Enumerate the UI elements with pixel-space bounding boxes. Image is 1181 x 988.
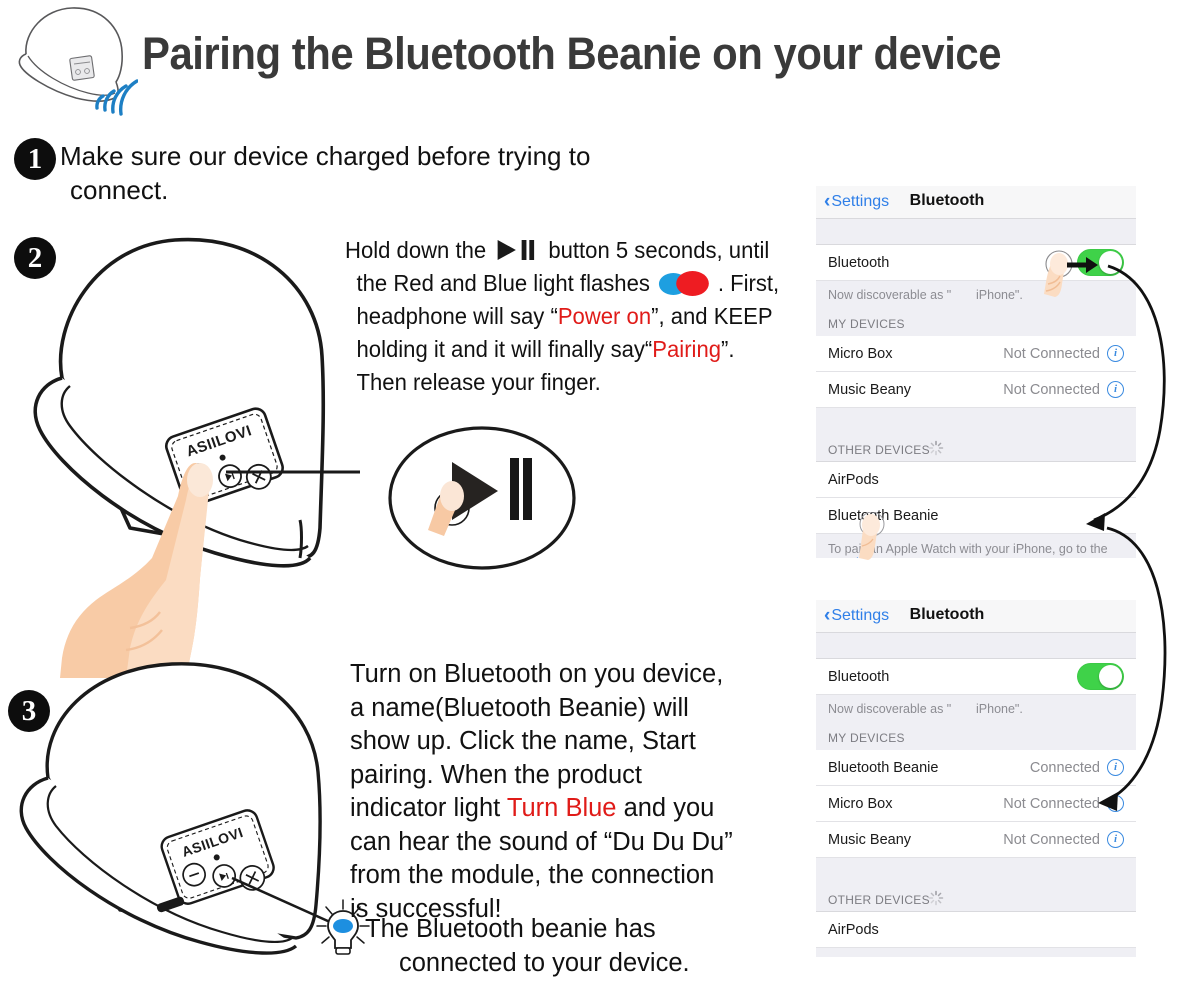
info-icon[interactable]: i bbox=[1107, 345, 1124, 362]
tapping-hand-icon bbox=[1042, 250, 1104, 298]
bluetooth-toggle-row[interactable]: Bluetooth bbox=[816, 659, 1136, 695]
step-2-text: Hold down the button 5 seconds, until th… bbox=[345, 234, 753, 399]
step2-line3a: headphone will say “ bbox=[357, 303, 558, 329]
other-devices-header: OTHER DEVICES bbox=[816, 434, 1136, 462]
red-led-icon bbox=[676, 271, 709, 296]
led-indicator-icons bbox=[659, 271, 709, 296]
discoverable-prefix: Now discoverable as " bbox=[828, 288, 951, 302]
play-pause-icon bbox=[497, 239, 537, 261]
step2-line4b: ”. bbox=[721, 336, 735, 362]
beanie-illustration-step3: ASIILOVI bbox=[0, 660, 365, 988]
device-status: Not Connected bbox=[1003, 796, 1100, 812]
instruction-sheet: Pairing the Bluetooth Beanie on your dev… bbox=[0, 0, 1181, 988]
table-row[interactable]: AirPods bbox=[816, 912, 1136, 948]
step3-line2: a name(Bluetooth Beanie) will bbox=[350, 692, 770, 726]
device-status: Not Connected bbox=[1003, 346, 1100, 362]
footnote-prefix: To pair an Apple Watch with your iPhone,… bbox=[828, 956, 1108, 957]
step2-pairing: Pairing bbox=[652, 336, 721, 362]
bluetooth-label: Bluetooth bbox=[828, 255, 889, 271]
other-devices-header: OTHER DEVICES bbox=[816, 884, 1136, 912]
step2-line2a: the Red and Blue light flashes bbox=[357, 270, 650, 296]
step2-line5: Then release your finger. bbox=[345, 366, 753, 399]
device-name: Music Beany bbox=[828, 832, 911, 848]
table-row[interactable]: AirPods bbox=[816, 462, 1136, 498]
device-name: Micro Box bbox=[828, 346, 892, 362]
tapping-finger-icon bbox=[855, 512, 889, 560]
beanie-with-signal-waves-icon bbox=[8, 2, 138, 120]
step3-turn-blue: Turn Blue bbox=[507, 794, 617, 822]
other-devices-label: OTHER DEVICES bbox=[828, 443, 930, 457]
info-icon[interactable]: i bbox=[1107, 759, 1124, 776]
loading-spinner-icon bbox=[928, 890, 944, 906]
nav-bar: ‹Settings Bluetooth bbox=[816, 186, 1136, 219]
info-icon[interactable]: i bbox=[1107, 381, 1124, 398]
spacer-block bbox=[816, 858, 1136, 884]
device-name: AirPods bbox=[828, 922, 879, 938]
toggle-knob bbox=[1099, 665, 1122, 688]
step3-line1: Turn on Bluetooth on you device, bbox=[350, 658, 770, 692]
watch-app-footnote: To pair an Apple Watch with your iPhone,… bbox=[816, 948, 1136, 957]
discoverable-device-name: iPhone". bbox=[976, 288, 1023, 302]
step-3-text: Turn on Bluetooth on you device, a name(… bbox=[350, 658, 770, 926]
info-icon[interactable]: i bbox=[1107, 795, 1124, 812]
step-1-text: Make sure our device charged before tryi… bbox=[60, 140, 720, 207]
step2-line3b: ”, and KEEP bbox=[651, 303, 773, 329]
device-name: Music Beany bbox=[828, 382, 911, 398]
device-name: AirPods bbox=[828, 472, 879, 488]
discoverable-prefix: Now discoverable as " bbox=[828, 702, 951, 716]
table-row[interactable]: Music Beany Not Connected i bbox=[816, 822, 1136, 858]
spacer-block bbox=[816, 219, 1136, 245]
device-name: Micro Box bbox=[828, 796, 892, 812]
table-row[interactable]: Micro Box Not Connected i bbox=[816, 786, 1136, 822]
nav-title: Bluetooth bbox=[816, 192, 1136, 210]
table-row[interactable]: Micro Box Not Connected i bbox=[816, 336, 1136, 372]
spacer-block bbox=[816, 633, 1136, 659]
bluetooth-settings-panel-discovering: ‹Settings Bluetooth Bluetooth Now discov… bbox=[816, 186, 1136, 558]
step3-line3: show up. Click the name, Start bbox=[350, 725, 770, 759]
bluetooth-label: Bluetooth bbox=[828, 669, 889, 685]
step-number-1: 1 bbox=[14, 138, 56, 180]
step3-line7: from the module, the connection bbox=[350, 859, 770, 893]
step3-line6: can hear the sound of “Du Du Du” bbox=[350, 826, 770, 860]
table-row[interactable]: Bluetooth Beanie Connected i bbox=[816, 750, 1136, 786]
bluetooth-settings-panel-connected: ‹Settings Bluetooth Bluetooth Now discov… bbox=[816, 600, 1136, 957]
table-row[interactable]: Music Beany Not Connected i bbox=[816, 372, 1136, 408]
bluetooth-toggle[interactable] bbox=[1077, 663, 1124, 690]
device-status: Not Connected bbox=[1003, 832, 1100, 848]
loading-spinner-icon bbox=[928, 440, 944, 456]
step1-line2: connect. bbox=[60, 174, 720, 208]
bulb-caption-text: The Bluetooth beanie has connected to yo… bbox=[365, 912, 765, 980]
nav-bar: ‹Settings Bluetooth bbox=[816, 600, 1136, 633]
step1-line1: Make sure our device charged before tryi… bbox=[60, 141, 590, 171]
bulb-caption-line1: The Bluetooth beanie has bbox=[365, 912, 765, 946]
page-title: Pairing the Bluetooth Beanie on your dev… bbox=[142, 28, 1001, 80]
device-status: Connected bbox=[1030, 760, 1100, 776]
discoverable-note: Now discoverable as " iPhone". bbox=[816, 695, 1136, 722]
step3-line5b: and you bbox=[616, 794, 714, 822]
device-name: Bluetooth Beanie bbox=[828, 760, 938, 776]
my-devices-header: MY DEVICES bbox=[816, 308, 1136, 336]
step2-line4a: holding it and it will finally say“ bbox=[357, 336, 653, 362]
step3-line4: pairing. When the product bbox=[350, 759, 770, 793]
step2-line1a: Hold down the bbox=[345, 237, 486, 263]
nav-title: Bluetooth bbox=[816, 606, 1136, 624]
magnifier-play-pause-callout bbox=[386, 424, 578, 572]
other-devices-label: OTHER DEVICES bbox=[828, 893, 930, 907]
beanie-illustration-step2: ASIILOVI bbox=[0, 228, 360, 678]
step2-line2b: . First, bbox=[718, 270, 779, 296]
step3-line5a: indicator light bbox=[350, 794, 507, 822]
bulb-caption-line2: connected to your device. bbox=[365, 946, 765, 980]
info-icon[interactable]: i bbox=[1107, 831, 1124, 848]
device-status: Not Connected bbox=[1003, 382, 1100, 398]
my-devices-header: MY DEVICES bbox=[816, 722, 1136, 750]
step2-power-on: Power on bbox=[558, 303, 651, 329]
spacer-block bbox=[816, 408, 1136, 434]
step2-line1b: button 5 seconds, until bbox=[548, 237, 769, 263]
discoverable-device-name: iPhone". bbox=[976, 702, 1023, 716]
